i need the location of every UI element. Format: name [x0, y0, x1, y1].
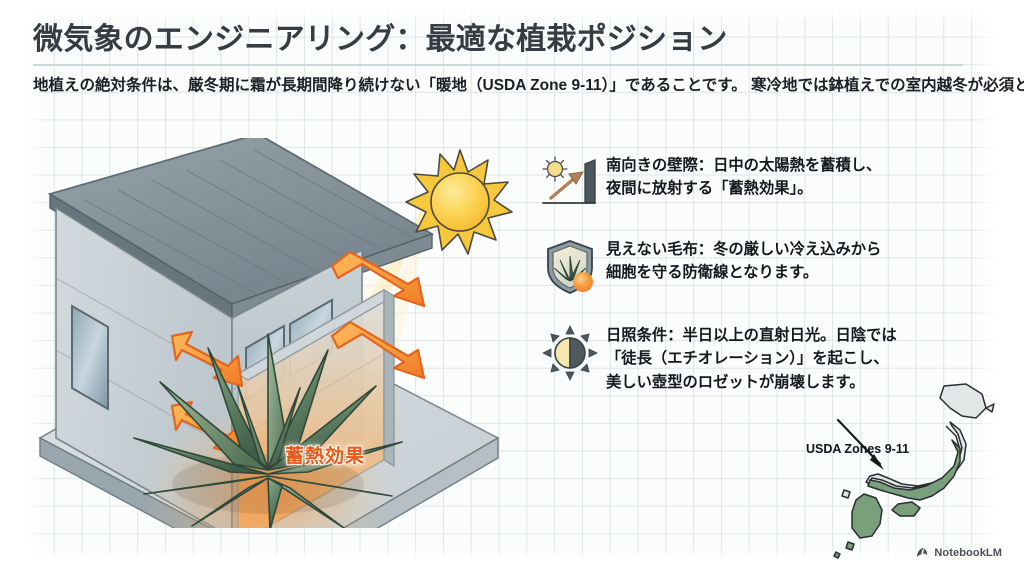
sun-icon [404, 146, 516, 258]
shield-plant-icon [534, 236, 606, 298]
notebooklm-logo-icon [915, 546, 929, 560]
list-item: 南向きの壁際：日中の太陽熱を蓄積し、 夜間に放射する「蓄熱効果」。 [534, 152, 1004, 214]
list-item: 見えない毛布：冬の厳しい冷え込みから 細胞を守る防衛線となります。 [534, 236, 1004, 298]
title-divider [33, 64, 963, 66]
wall-sun-heat-icon [534, 152, 606, 214]
page-subtitle: 地植えの絶対条件は、厳冬期に霜が長期間降り続けない「暖地（USDA Zone 9… [33, 75, 983, 98]
sun-shade-split-icon [534, 322, 606, 384]
key-points-list: 南向きの壁際：日中の太陽熱を蓄積し、 夜間に放射する「蓄熱効果」。 [534, 152, 1004, 412]
map-zone-label: USDA Zones 9-11 [806, 442, 909, 456]
header: 微気象のエンジニアリング：最適な植栽ポジション 地植えの絶対条件は、厳冬期に霜が… [33, 22, 983, 98]
page-title: 微気象のエンジニアリング：最適な植栽ポジション [33, 22, 983, 57]
list-item-text: 見えない毛布：冬の厳しい冷え込みから 細胞を守る防衛線となります。 [606, 236, 1004, 285]
notebooklm-watermark: NotebookLM [915, 546, 1002, 560]
watermark-text: NotebookLM [934, 547, 1002, 559]
list-item-text: 南向きの壁際：日中の太陽熱を蓄積し、 夜間に放射する「蓄熱効果」。 [606, 152, 1004, 201]
japan-map [826, 382, 1006, 560]
infographic-page: 微気象のエンジニアリング：最適な植栽ポジション 地植えの絶対条件は、厳冬期に霜が… [0, 0, 1024, 572]
